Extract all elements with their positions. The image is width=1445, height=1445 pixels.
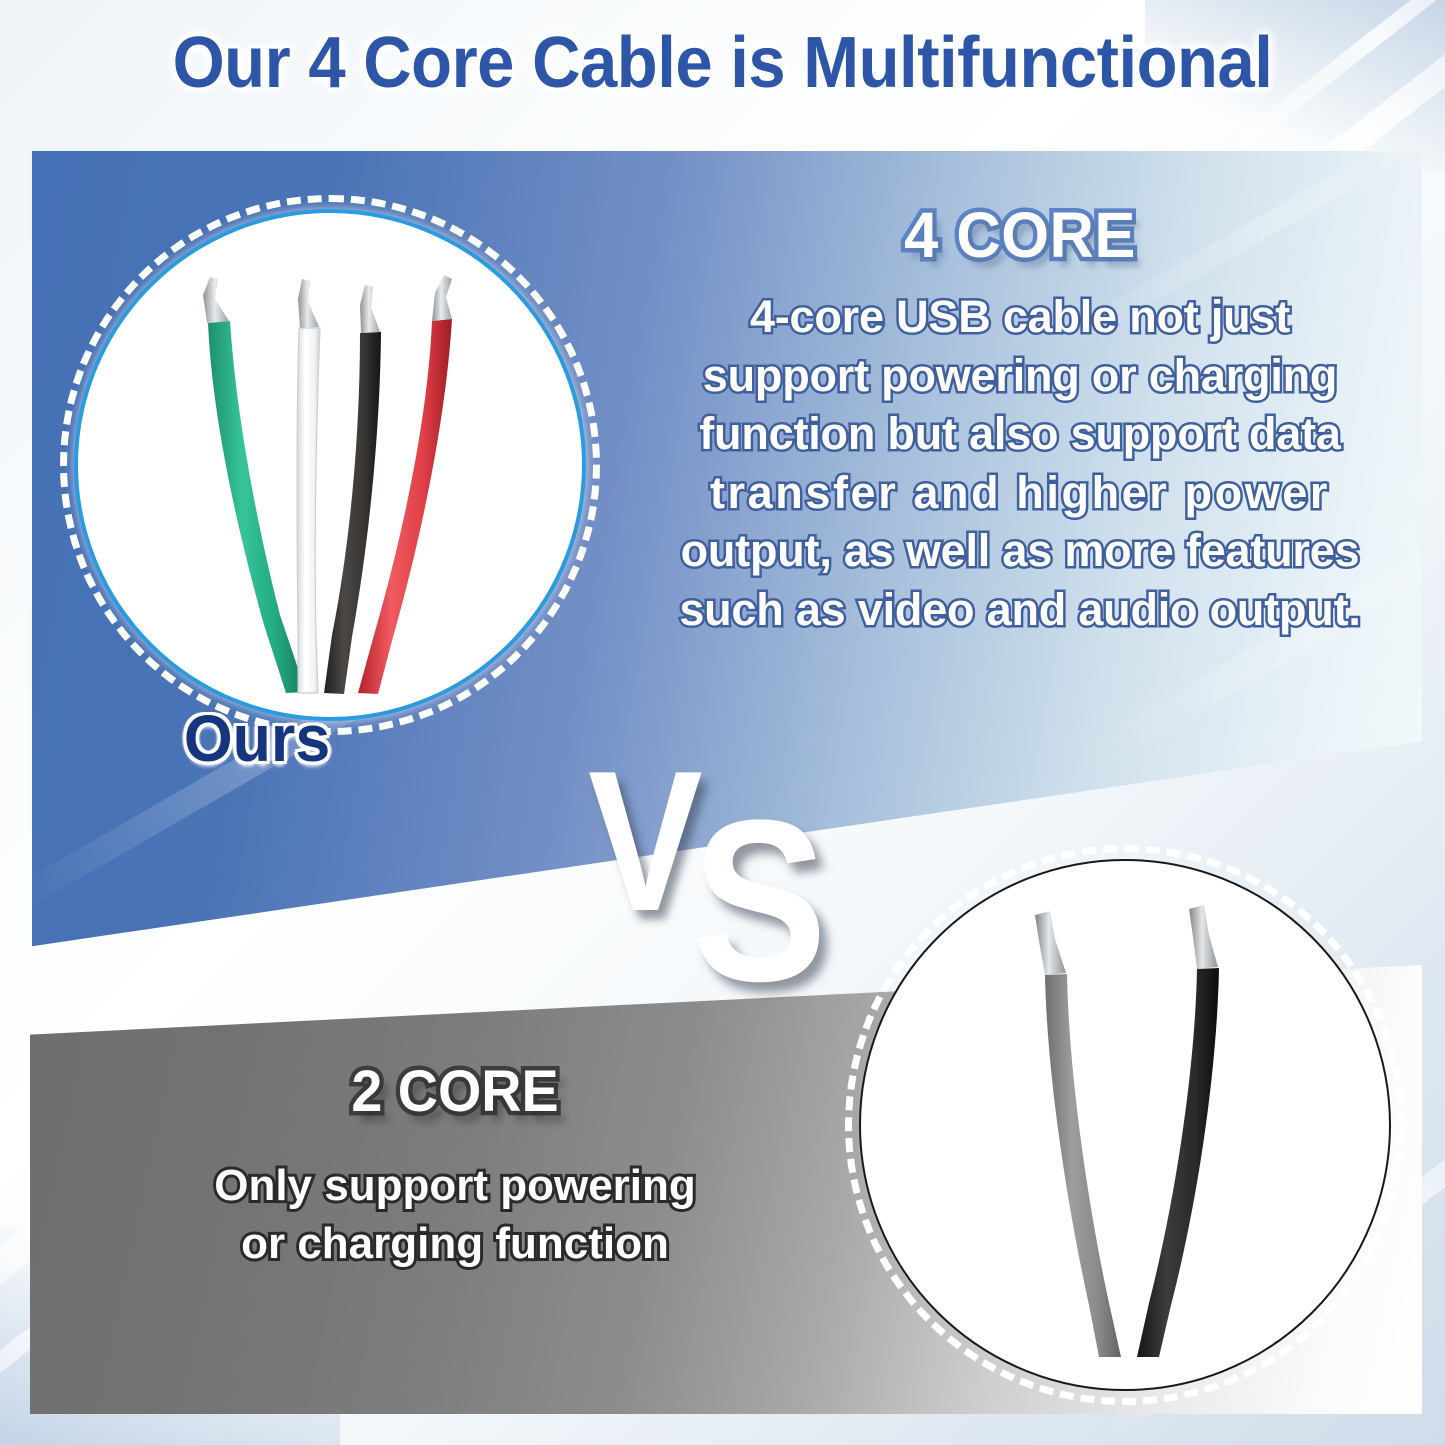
four-core-description: 4-core USB cable not just support poweri… (640, 288, 1400, 639)
ours-label: Ours (184, 700, 330, 776)
wire-green-tip (203, 277, 229, 323)
four-core-description-line: function but also support data (648, 405, 1392, 464)
wire-grey-tip (1035, 911, 1066, 975)
wire-white-tip (298, 279, 319, 328)
page-title: Our 4 Core Cable is Multifunctional (51, 22, 1395, 104)
wire-white (297, 328, 320, 693)
two-core-heading: 2 CORE (133, 1058, 776, 1125)
four-core-description-line: transfer and higher power (648, 464, 1392, 523)
two-core-wires-image (845, 845, 1405, 1405)
two-core-text-block: 2 CORE Only support powering or charging… (120, 1058, 790, 1273)
four-core-wires-image (60, 195, 600, 735)
versus-badge: V S (588, 742, 848, 952)
wire-black-tip (1189, 905, 1218, 969)
infographic-canvas: Our 4 Core Cable is Multifunctional (0, 0, 1445, 1445)
four-core-text-block: 4 CORE 4-core USB cable not just support… (640, 198, 1400, 639)
wire-black (1137, 968, 1219, 1357)
versus-letter-s: S (692, 786, 827, 1016)
wire-red-tip (432, 275, 452, 321)
two-core-description-line: or charging function (120, 1215, 790, 1273)
two-core-circle-callout (845, 845, 1405, 1405)
four-core-description-line: output, as well as more features (648, 522, 1392, 581)
versus-letter-v: V (588, 742, 703, 942)
wire-black-tip (360, 285, 380, 333)
wire-grey (1045, 974, 1121, 1357)
two-core-description-line: Only support powering (120, 1157, 790, 1215)
four-core-heading: 4 CORE (655, 198, 1385, 272)
ours-circle-callout (60, 195, 600, 735)
wire-green (208, 321, 306, 693)
four-core-description-line: support powering or charging (648, 347, 1392, 406)
wire-black (324, 332, 381, 694)
four-core-description-line: such as video and audio output. (648, 581, 1392, 640)
two-core-description: Only support powering or charging functi… (120, 1157, 790, 1273)
four-core-description-line: 4-core USB cable not just (648, 288, 1392, 347)
